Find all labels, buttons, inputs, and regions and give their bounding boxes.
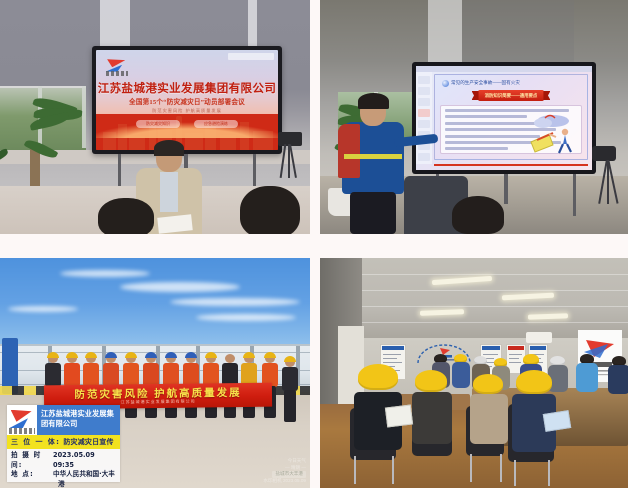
screen-subtitle: 全国第15个“防灾减灾日”动员部署会议 [96,96,278,106]
speaker-shirt [160,172,178,212]
led-display[interactable]: 常见的生产安全事故——固有火灾 消防知识简要——通用要点 [412,62,596,174]
screen-button: 防灾减灾知识 [136,120,180,128]
weather-line-4: 水印相机 2023.05.09 [263,478,306,485]
presenter-jacket-red-panel [338,124,360,178]
watermark-place-value-line2: 港 [11,480,116,488]
attendee-front [470,374,508,444]
video-camera [592,146,628,206]
presentation-toolbar[interactable] [416,66,592,72]
watermark-theme-value: 防灾减灾日宣传 [63,437,113,447]
speaker-hair [154,140,184,156]
worker [282,358,298,422]
screen-button: 应急避险演练 [194,120,238,128]
presentation-screen: 常见的生产安全事故——固有火灾 消防知识简要——通用要点 [416,66,592,170]
slide-footer-bar [434,164,588,166]
watermark-company-name: 江苏盐城港实业发展集团有限公司 [37,405,120,435]
foreground-attendee-head [452,196,504,234]
photo-top-left[interactable]: 江苏盐城港实业发展集团有限公司 全国第15个“防灾减灾日”动员部署会议 防范灾害… [0,0,310,234]
foreground-attendee-head [98,198,154,234]
weather-line-3: 盐城市大丰港 [272,471,306,478]
photo-bottom-right[interactable] [320,258,628,488]
attendee [452,354,470,388]
presenter-reflective-stripe [344,154,402,159]
fire-safety-illustration [523,112,577,156]
slide-body [440,105,582,154]
screen-corner-tag [228,53,274,60]
watermark-theme-label: 三 位 一 体: [11,437,60,447]
active-slide: 常见的生产安全事故——固有火灾 消防知识简要——通用要点 [434,74,588,160]
presenter [338,96,408,234]
air-conditioner [526,332,552,343]
attendee [576,354,598,392]
screen-title: 江苏盐城港实业发展集团有限公司 [96,80,278,96]
company-logo-icon [7,405,37,435]
handout-paper [386,406,412,426]
attendee-front [512,370,556,452]
weather-watermark: 今日天气 — 晴朗 — 盐城市大丰港 水印相机 2023.05.09 [263,458,306,484]
presenter-hair [358,93,389,109]
watermark-theme-row: 三 位 一 体: 防灾减灾日宣传 [7,435,120,449]
foreground-attendee-head [240,186,300,234]
screen-tagline: 防范灾害风险 护航高质量发展 [96,108,278,114]
presenter-trousers [350,192,396,234]
slide-thumbnail-panel[interactable] [416,72,432,164]
company-logo-icon [104,56,130,76]
led-display[interactable]: 江苏盐城港实业发展集团有限公司 全国第15个“防灾减灾日”动员部署会议 防范灾害… [92,46,282,154]
slide-ribbon-title: 消防知识简要——通用要点 [478,90,545,101]
screen-buttons: 防灾减灾知识 应急避险演练 [96,120,278,128]
led-screen-content: 江苏盐城港实业发展集团有限公司 全国第15个“防灾减灾日”动员部署会议 防范灾害… [96,50,278,150]
watermark-time-label: 拍 摄 时 间: [11,451,53,470]
attendee-front [412,370,452,444]
watermark-meta: 拍 摄 时 间: 2023.05.09 09:35 地 点: 中华人民共和国·大… [7,449,120,488]
photo-top-right[interactable]: 常见的生产安全事故——固有火灾 消防知识简要——通用要点 [320,0,628,234]
slide-header: 常见的生产安全事故——固有火灾 [439,78,583,87]
watermark-card: 江苏盐城港实业发展集团有限公司 三 位 一 体: 防灾减灾日宣传 拍 摄 时 间… [7,405,120,482]
watermark-time-row: 拍 摄 时 间: 2023.05.09 09:35 [11,451,116,470]
attendee [608,356,628,394]
slide-bullet-icon [442,80,449,87]
watermark-place-label: 地 点: [11,470,53,480]
handout-paper [544,412,570,430]
watermark-time-value: 2023.05.09 09:35 [53,451,116,470]
photo-bottom-left[interactable]: 防范灾害风险 护航高质量发展 江苏盐城港实业发展集团有限公司 江苏盐城港实业发展… [0,258,310,488]
video-camera [272,128,310,166]
watermark-place-row: 地 点: 中华人民共和国·大丰 [11,470,116,480]
watermark-place-value: 中华人民共和国·大丰 [53,470,116,480]
watermark-header: 江苏盐城港实业发展集团有限公司 [7,405,120,435]
photo-collage: 江苏盐城港实业发展集团有限公司 全国第15个“防灾减灾日”动员部署会议 防范灾害… [0,0,628,488]
